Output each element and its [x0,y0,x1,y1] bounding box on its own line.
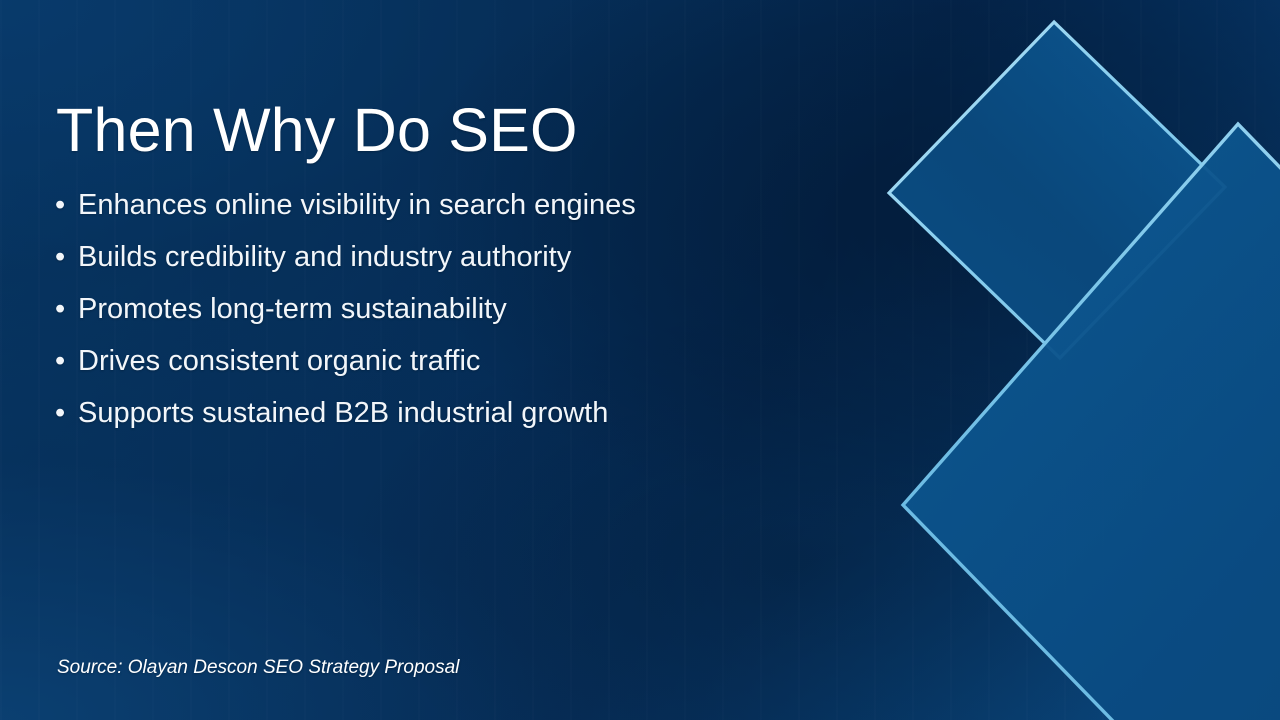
source-caption: Source: Olayan Descon SEO Strategy Propo… [57,657,459,679]
list-item-label: Builds credibility and industry authorit… [78,241,571,273]
presentation-slide: Then Why Do SEO • Enhances online visibi… [0,0,1280,720]
bullet-list: • Enhances online visibility in search e… [54,186,854,446]
list-item-label: Supports sustained B2B industrial growth [78,397,608,429]
list-item: • Supports sustained B2B industrial grow… [54,394,854,433]
list-item-label: Promotes long-term sustainability [78,293,507,325]
list-item: • Builds credibility and industry author… [54,238,854,277]
list-item: • Drives consistent organic traffic [54,342,854,381]
bullet-marker: • [55,394,65,433]
bullet-marker: • [55,290,65,329]
bullet-marker: • [55,186,65,225]
list-item-label: Enhances online visibility in search eng… [78,189,636,221]
bullet-marker: • [55,342,65,381]
list-item: • Promotes long-term sustainability [54,290,854,329]
bullet-marker: • [55,238,65,277]
slide-title: Then Why Do SEO [56,97,578,164]
list-item: • Enhances online visibility in search e… [54,186,854,225]
slide-content: Then Why Do SEO • Enhances online visibi… [0,0,1280,720]
list-item-label: Drives consistent organic traffic [78,345,480,377]
